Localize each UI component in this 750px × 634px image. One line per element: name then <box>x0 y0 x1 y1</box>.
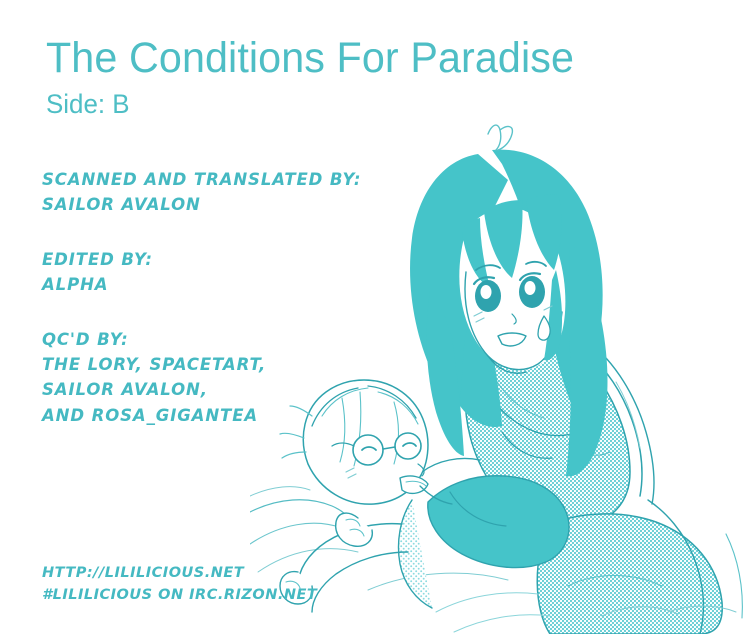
credit-role-label: EDITED BY: <box>42 247 442 272</box>
credit-group-qc: QC'D BY: THE LORY, SPACETART, SAILOR AVA… <box>42 327 442 427</box>
credit-name: ALPHA <box>42 272 442 297</box>
credit-name: AND ROSA_GIGANTEA <box>42 403 442 428</box>
credit-group-scanlation: SCANNED AND TRANSLATED BY: SAILOR AVALON <box>42 167 442 217</box>
irc-channel[interactable]: #LILILICIOUS ON IRC.RIZON.NET <box>42 585 317 607</box>
page-title: The Conditions For Paradise <box>46 36 574 82</box>
website-url[interactable]: HTTP://LILILICIOUS.NET <box>42 563 317 585</box>
credit-role-label: SCANNED AND TRANSLATED BY: <box>42 167 442 192</box>
title-block: The Conditions For Paradise Side: B <box>46 36 596 120</box>
credit-role-label: QC'D BY: <box>42 327 442 352</box>
credits-page: The Conditions For Paradise Side: B SCAN… <box>0 0 750 634</box>
footer-block: HTTP://LILILICIOUS.NET #LILILICIOUS ON I… <box>42 563 317 607</box>
credit-group-editing: EDITED BY: ALPHA <box>42 247 442 297</box>
credits-block: SCANNED AND TRANSLATED BY: SAILOR AVALON… <box>42 167 442 428</box>
page-subtitle: Side: B <box>46 88 574 120</box>
credit-name: SAILOR AVALON, <box>42 377 442 402</box>
text-layer: The Conditions For Paradise Side: B SCAN… <box>0 0 750 634</box>
credit-name: THE LORY, SPACETART, <box>42 352 442 377</box>
credit-name: SAILOR AVALON <box>42 192 442 217</box>
